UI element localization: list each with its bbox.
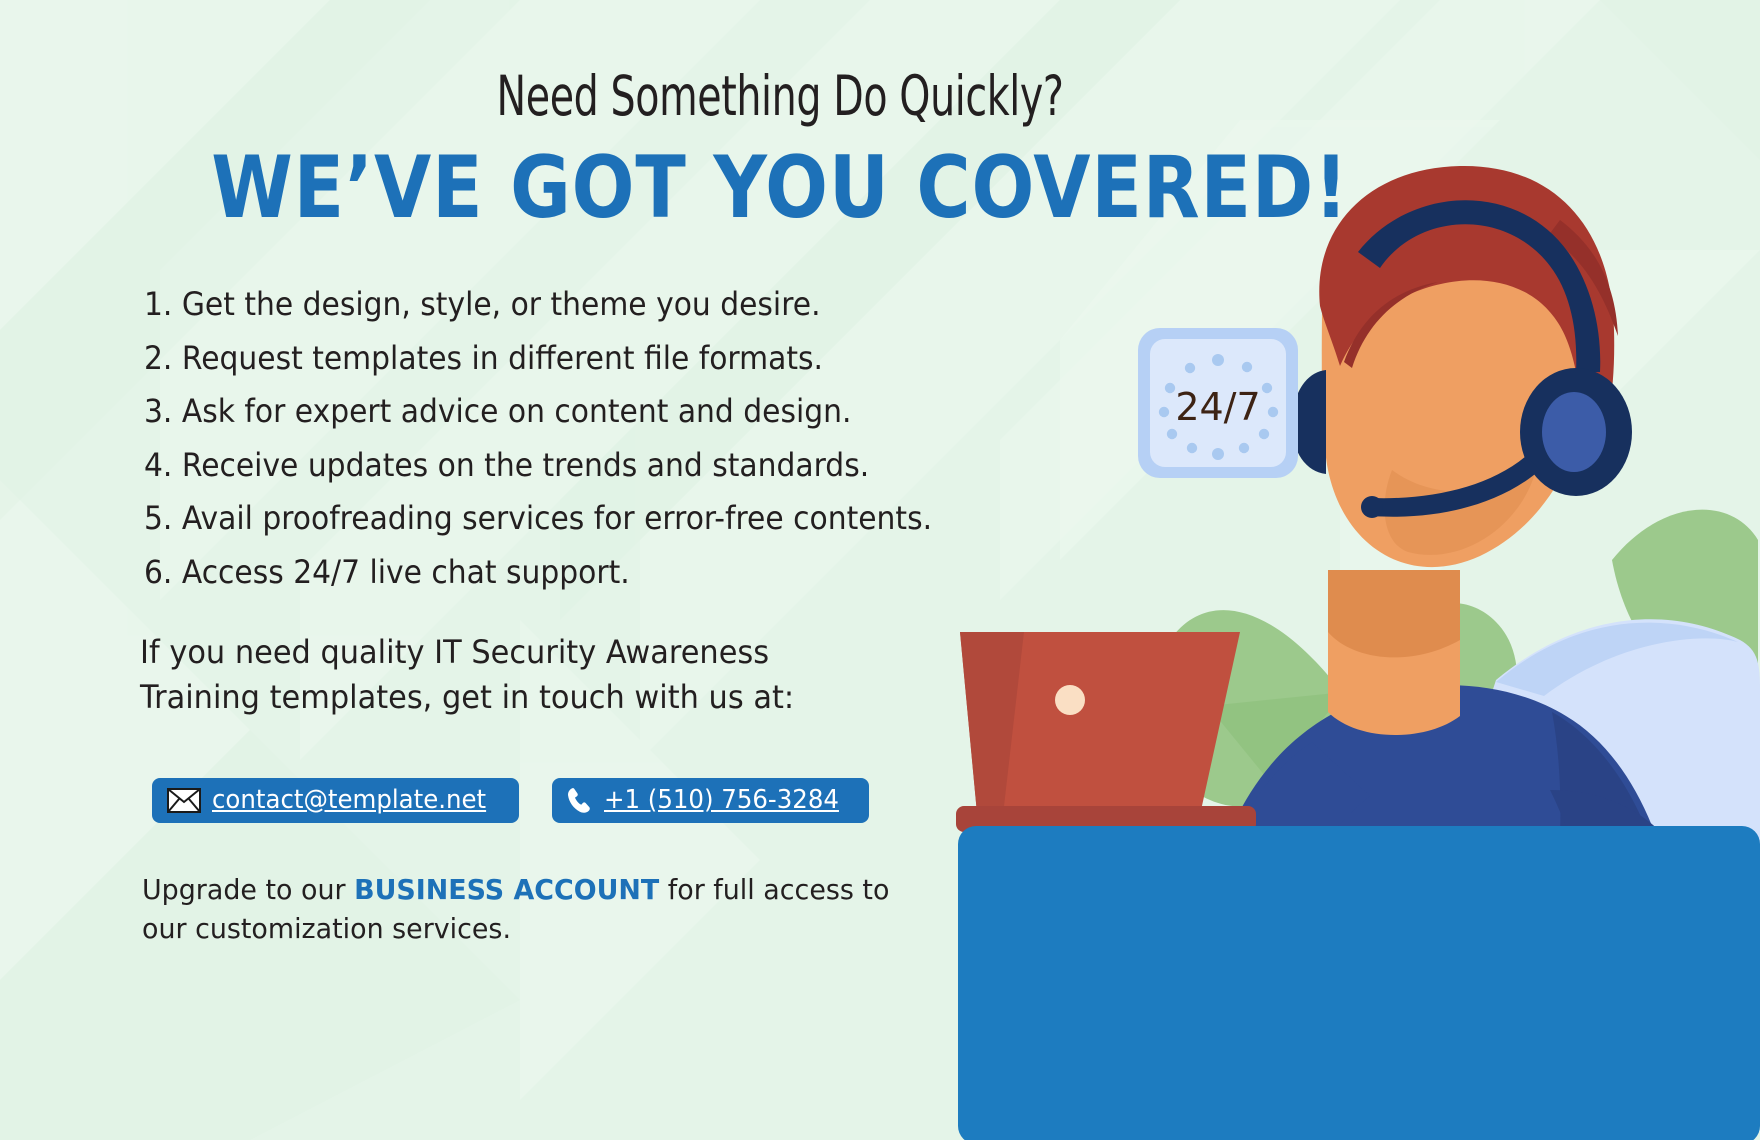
phone-contact-button[interactable]: +1 (510) 756-3284: [552, 778, 869, 823]
list-item: 5. Avail proofreading services for error…: [144, 492, 916, 546]
benefits-list: 1. Get the design, style, or theme you d…: [144, 278, 974, 599]
phone-number-text: +1 (510) 756-3284: [604, 785, 839, 815]
envelope-icon: [167, 788, 201, 813]
pitch-line-2: Training templates, get in touch with us…: [140, 678, 794, 716]
contact-row: contact@template.net +1 (510) 756-3284: [152, 778, 869, 823]
poster-content: Need Something Do Quickly? WE’VE GOT YOU…: [0, 0, 1760, 1140]
list-item: 2. Request templates in different file f…: [144, 332, 916, 386]
list-item: 1. Get the design, style, or theme you d…: [144, 278, 916, 332]
list-item: 3. Ask for expert advice on content and …: [144, 385, 916, 439]
page-title: WE’VE GOT YOU COVERED!: [109, 138, 1451, 238]
eyebrow-heading: Need Something Do Quickly?: [156, 64, 1404, 128]
list-item: 6. Access 24/7 live chat support.: [144, 546, 916, 600]
phone-icon: [567, 787, 593, 814]
upsell-prefix: Upgrade to our: [142, 873, 354, 906]
email-address-text: contact@template.net: [212, 785, 486, 815]
upsell-accent: BUSINESS ACCOUNT: [354, 873, 659, 906]
upsell-paragraph: Upgrade to our BUSINESS ACCOUNT for full…: [142, 870, 920, 948]
list-item: 4. Receive updates on the trends and sta…: [144, 439, 916, 493]
email-contact-button[interactable]: contact@template.net: [152, 778, 519, 823]
pitch-line-1: If you need quality IT Security Awarenes…: [140, 633, 769, 671]
pitch-paragraph: If you need quality IT Security Awarenes…: [140, 630, 900, 720]
